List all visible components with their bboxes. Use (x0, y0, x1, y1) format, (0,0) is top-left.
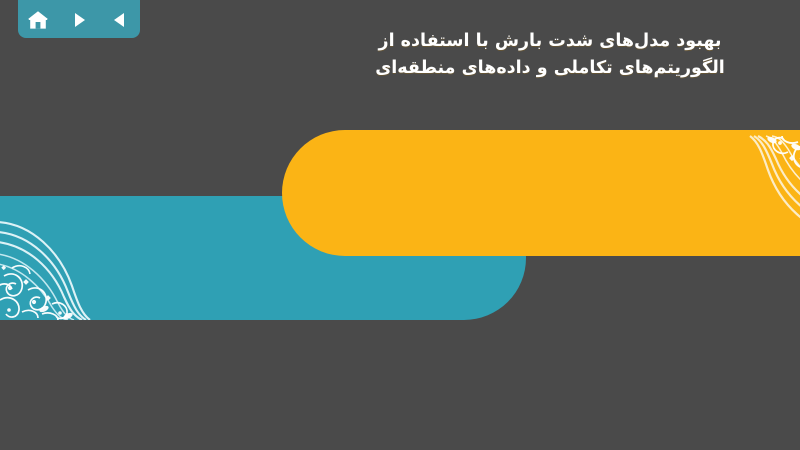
back-button[interactable] (107, 8, 133, 32)
navigation-bar (18, 0, 140, 38)
home-button[interactable] (25, 8, 51, 32)
title-line-2: الگوریتم‌های تکاملی و داده‌های منطقه‌ای (340, 55, 760, 82)
orange-title-banner (282, 130, 800, 256)
forward-button[interactable] (66, 8, 92, 32)
back-triangle-icon (111, 11, 129, 29)
arabesque-corner-ornament-orange (682, 130, 800, 248)
slide-title: بهبود مدل‌های شدت بارش با استفاده از الگ… (340, 28, 760, 82)
title-line-1: بهبود مدل‌های شدت بارش با استفاده از (340, 28, 760, 55)
forward-triangle-icon (70, 11, 88, 29)
arabesque-corner-ornament-teal (0, 208, 148, 320)
slide-canvas: بهبود مدل‌های شدت بارش با استفاده از الگ… (0, 0, 800, 450)
home-icon (27, 10, 49, 30)
